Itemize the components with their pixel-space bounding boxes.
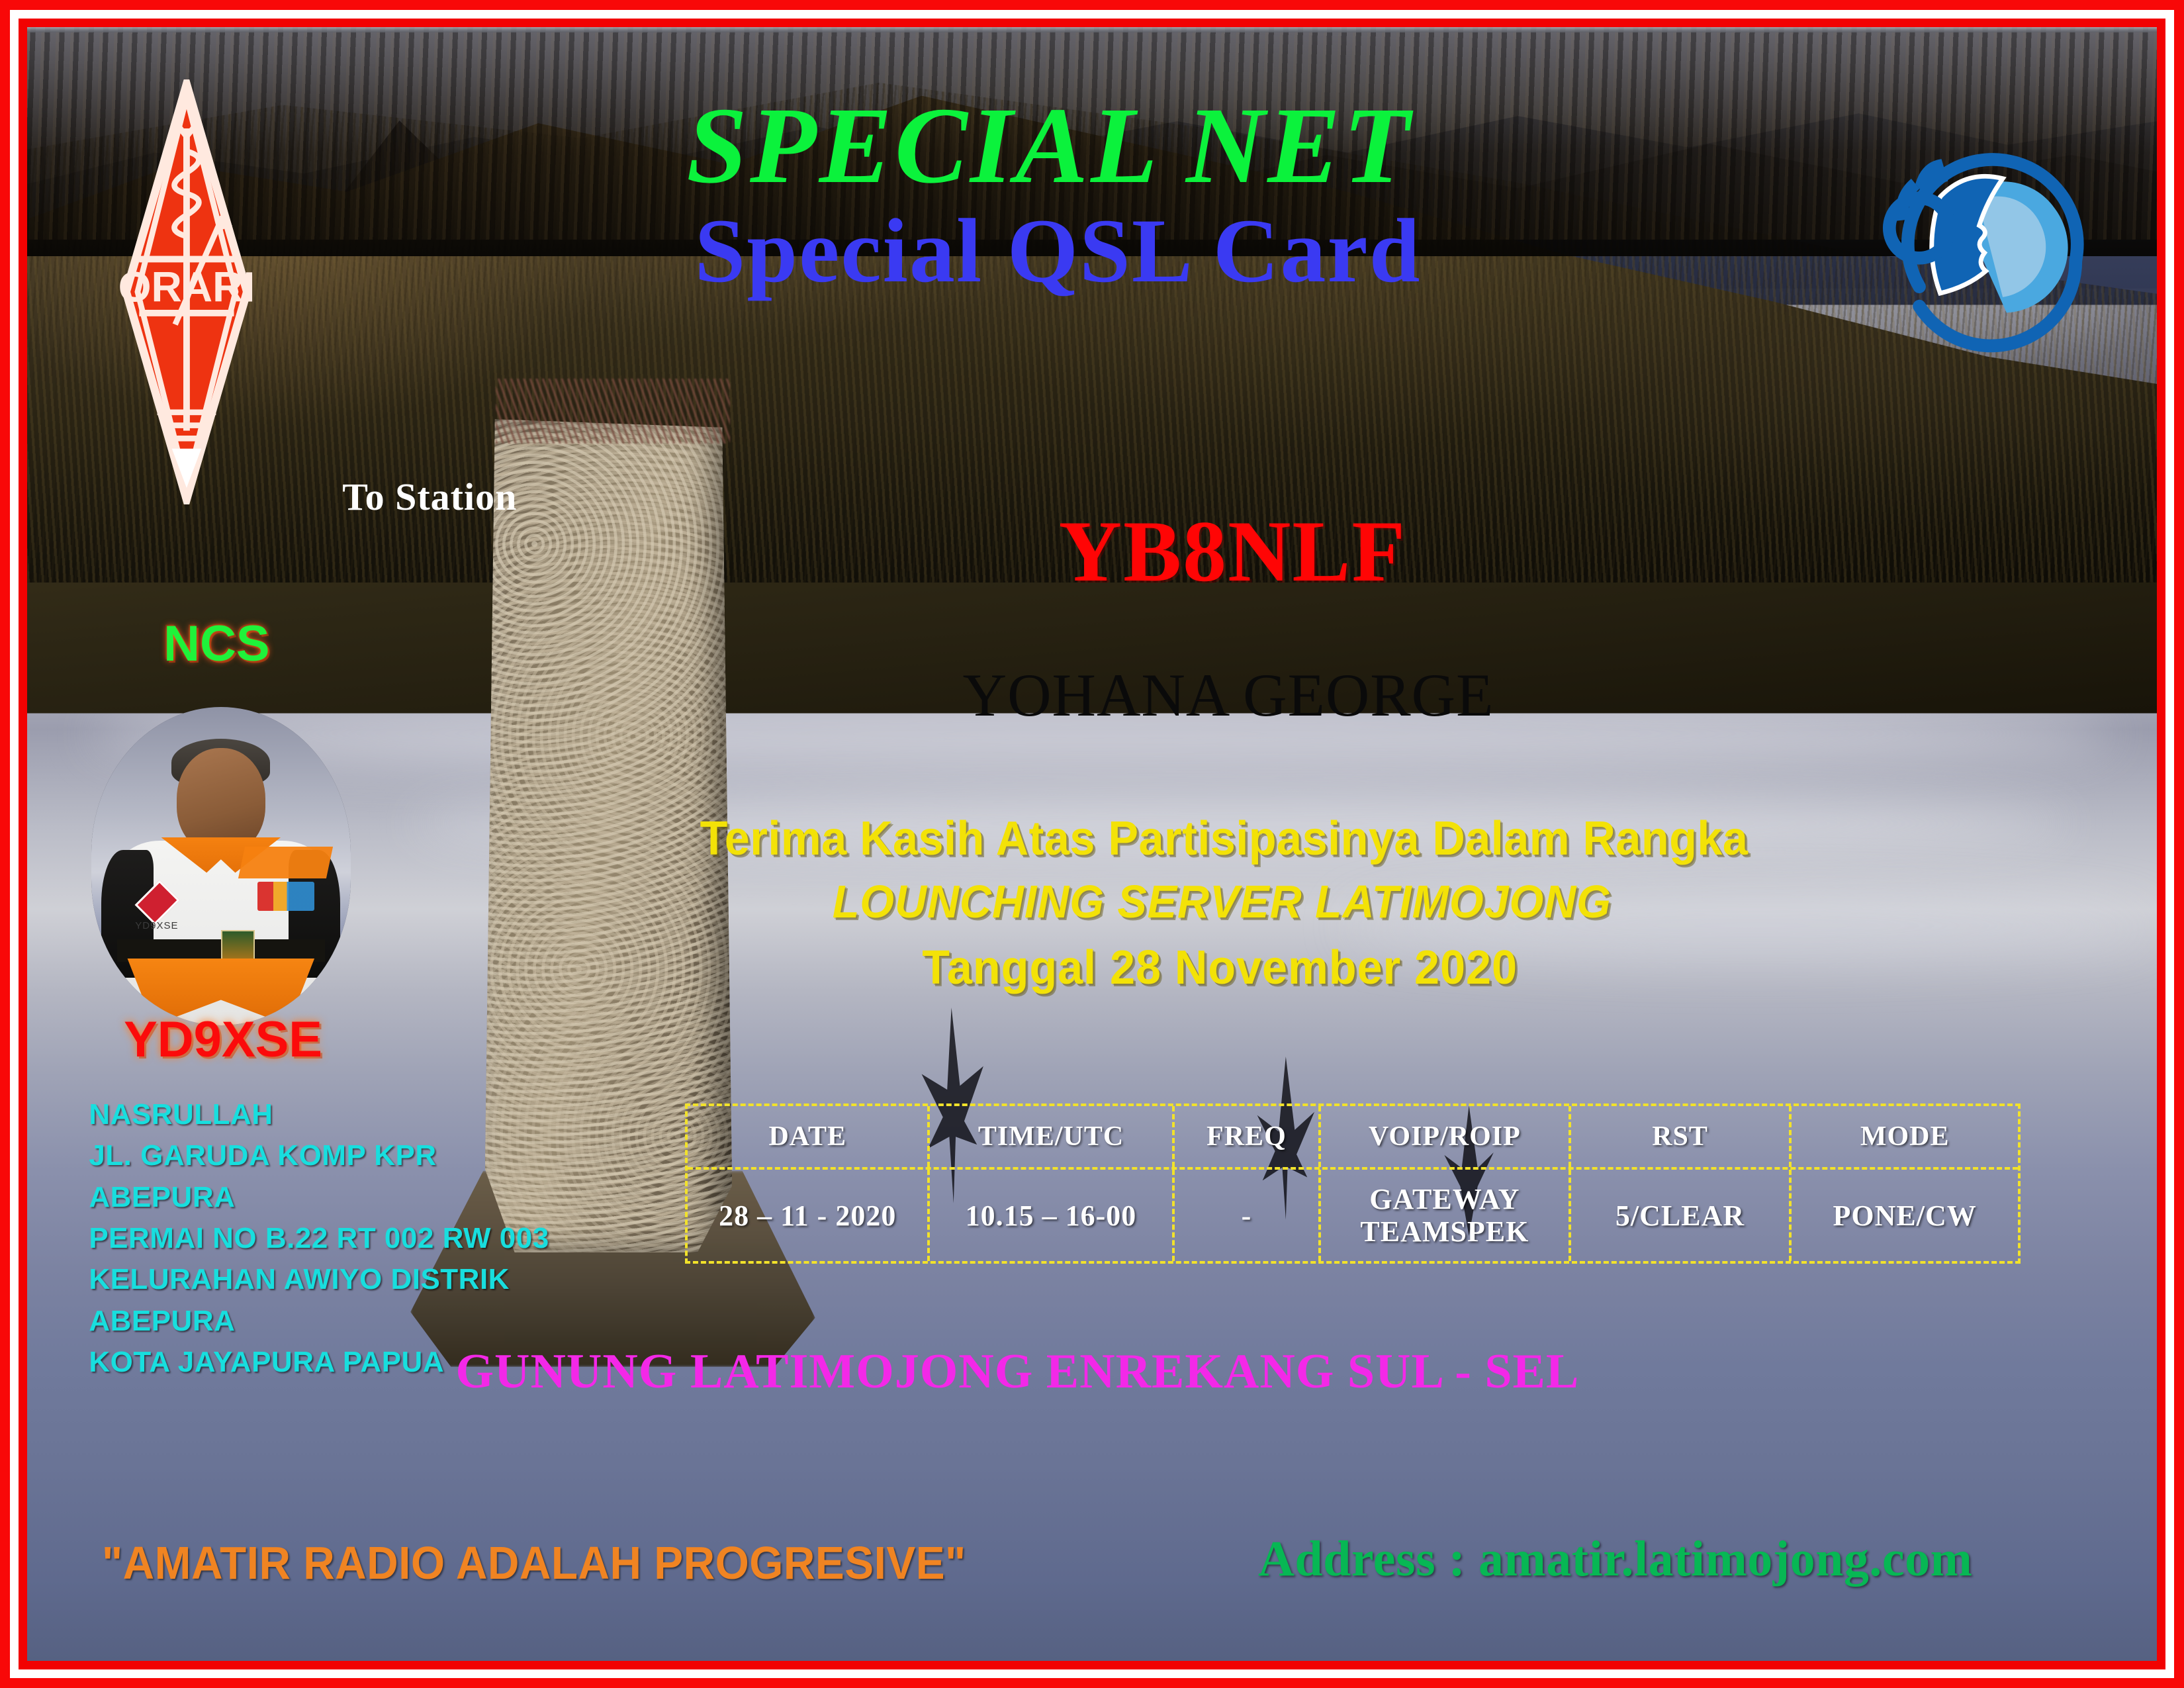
cell-time: 10.15 – 16-00 [930,1170,1175,1261]
column-header-mode: MODE [1792,1106,2018,1167]
ncs-callsign: YD9XSE [91,1011,355,1068]
page-title: SPECIAL NET [27,91,2115,200]
club-motto: "AMATIR RADIO ADALAH PROGRESIVE" [102,1536,966,1589]
station-callsign: YB8NLF [167,508,2157,595]
uniform-logo-badge [257,882,314,910]
card-inner-red-frame: ORARI [19,19,2165,1669]
address-line: KELURAHAN AWIYO DISTRIK [89,1259,685,1300]
table-header-row: DATE TIME/UTC FREQ VOIP/ROIP RST MODE [688,1106,2018,1170]
table-row: 28 – 11 - 2020 10.15 – 16-00 - GATEWAY T… [688,1170,2018,1261]
website-address: Address : amatir.latimojong.com [1258,1530,1972,1588]
address-line: ABEPURA [89,1177,685,1218]
card-content: ORARI [27,27,2157,1661]
page-subtitle: Special QSL Card [27,205,2123,297]
column-header-voip: VOIP/ROIP [1321,1106,1571,1167]
address-line: PERMAI NO B.22 RT 002 RW 003 [89,1218,685,1259]
column-header-date: DATE [688,1106,930,1167]
cell-freq: - [1175,1170,1321,1261]
address-line: JL. GARUDA KOMP KPR [89,1135,685,1176]
ncs-label: NCS [99,615,334,673]
cell-mode: PONE/CW [1792,1170,2018,1261]
cell-voip: GATEWAY TEAMSPEK [1321,1170,1571,1261]
column-header-time: TIME/UTC [930,1106,1175,1167]
cell-rst: 5/CLEAR [1571,1170,1792,1261]
qsl-card: ORARI [0,0,2184,1688]
cell-date: 28 – 11 - 2020 [688,1170,930,1261]
address-line: ABEPURA [89,1301,685,1342]
card-background-photo: ORARI [27,27,2157,1661]
uniform-callsign-text: YD9XSE [135,920,178,931]
column-header-freq: FREQ [1175,1106,1321,1167]
operator-name: YOHANA GEORGE [163,665,2157,726]
uniform-orange-stripe [238,847,334,878]
location-caption: GUNUNG LATIMOJONG ENREKANG SUL - SEL [27,1344,2082,1400]
qso-details-table: DATE TIME/UTC FREQ VOIP/ROIP RST MODE 28… [685,1103,2021,1264]
event-thanks-line: Terima Kasih Atas Partisipasinya Dalam R… [212,812,2157,866]
column-header-rst: RST [1571,1106,1792,1167]
address-line: NASRULLAH [89,1094,685,1135]
event-name-line: LOUNCHING SERVER LATIMOJONG [210,875,2157,928]
event-date-line: Tanggal 28 November 2020 [208,941,2157,995]
address-block: NASRULLAH JL. GARUDA KOMP KPR ABEPURA PE… [89,1094,685,1383]
ncs-operator-photo: YD9XSE [91,707,351,1025]
card-white-frame: ORARI [10,10,2174,1678]
